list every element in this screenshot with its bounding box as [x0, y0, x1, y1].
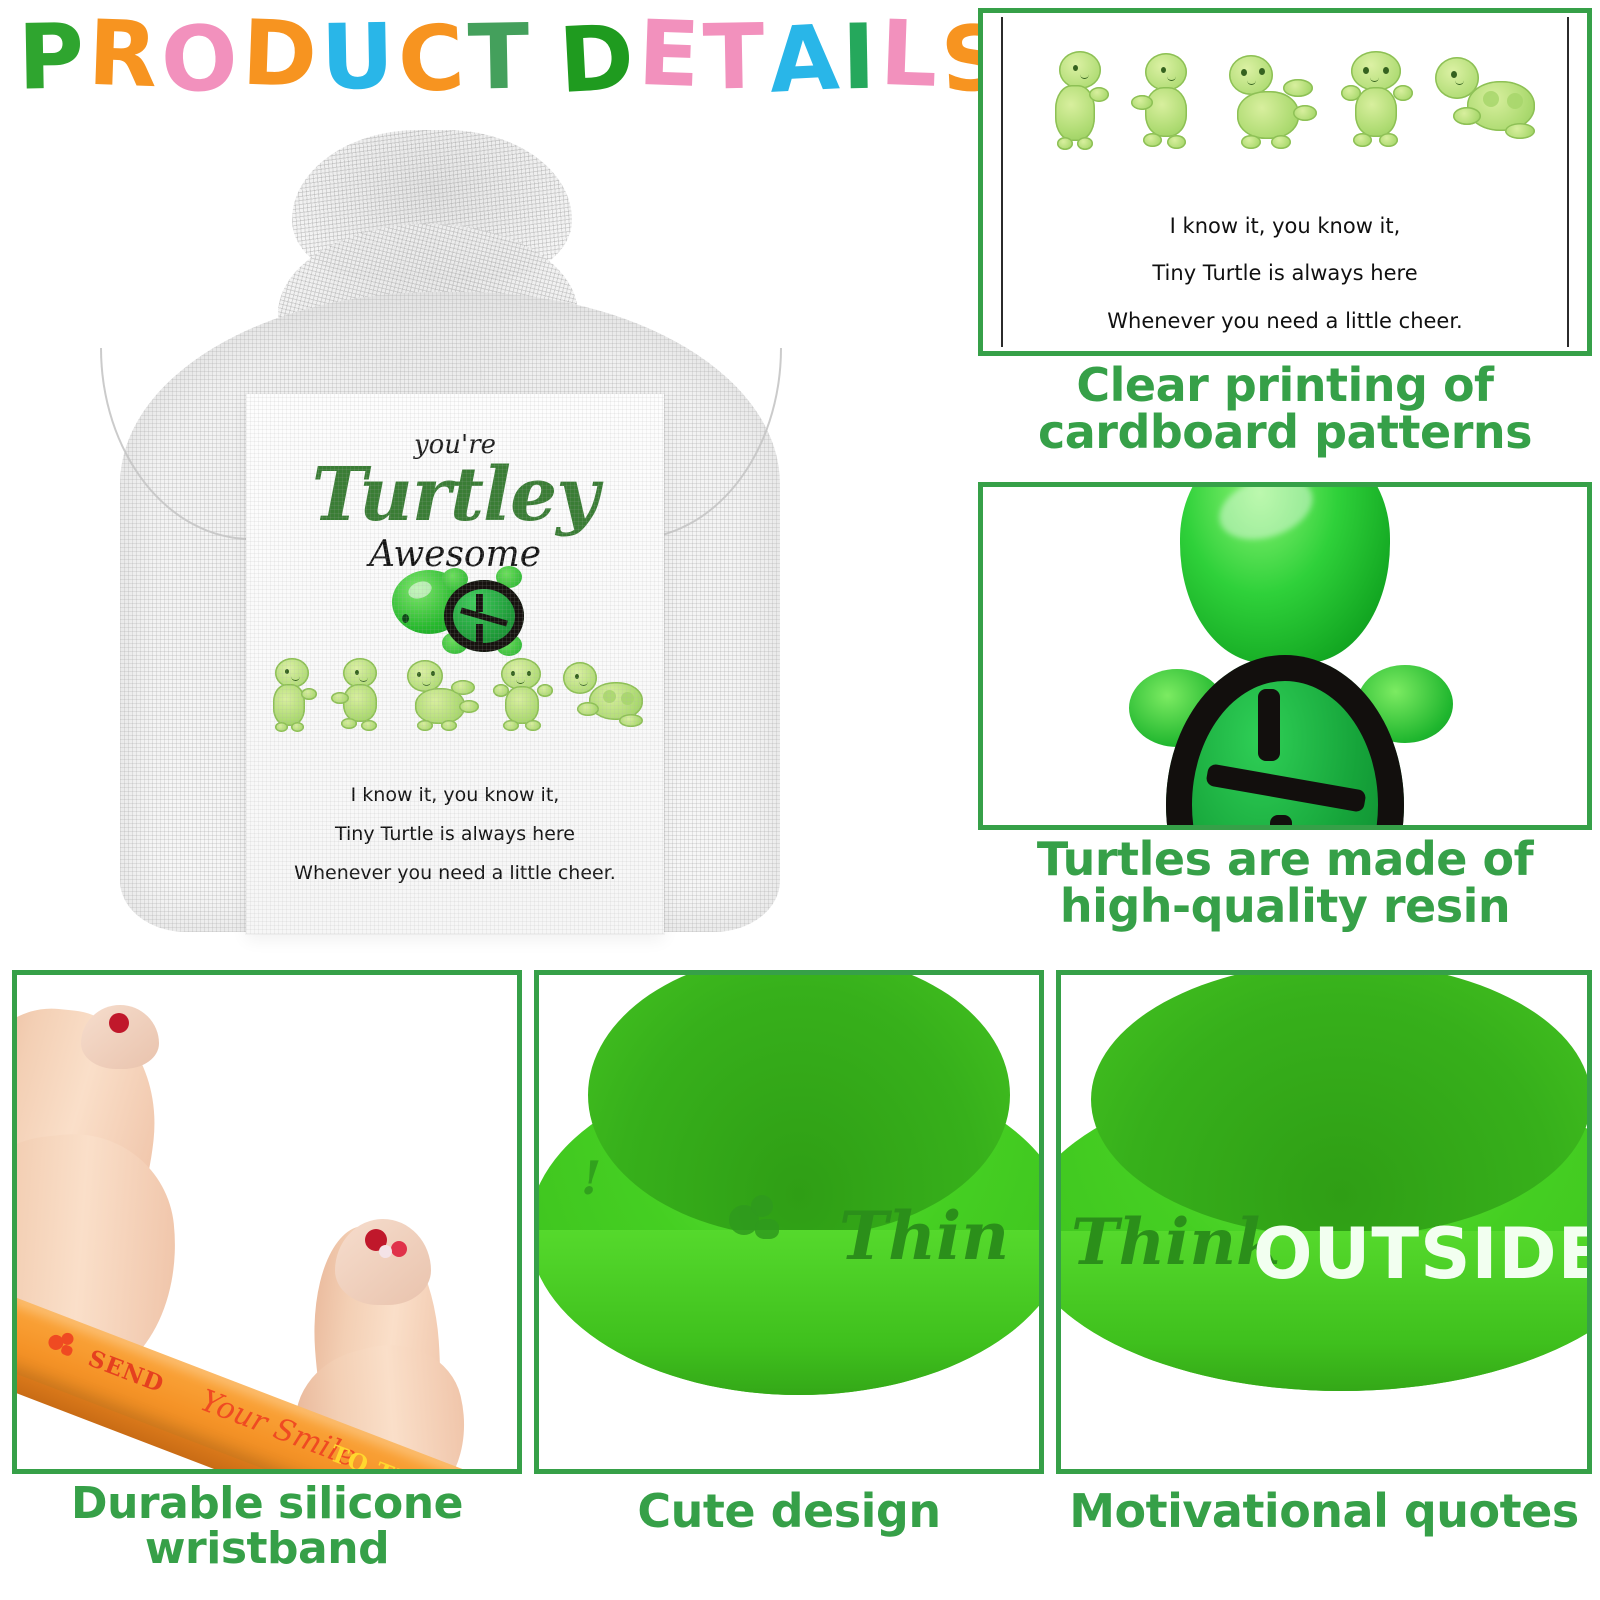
- macro-seam-1: [1258, 689, 1280, 761]
- turtle-silhouette-icon: [729, 1195, 783, 1241]
- title-letter: O: [159, 6, 245, 114]
- nail-gem-2: [391, 1241, 407, 1257]
- panel-motivational-quotes: Think OUTSIDE: [1056, 970, 1592, 1474]
- title-letter: C: [395, 6, 470, 114]
- caption-cardboard-pattern: Clear printing of cardboard patterns: [978, 362, 1592, 456]
- caption-cute-design: Cute design: [534, 1488, 1044, 1535]
- organza-bag-image: you're Turtley Awesome: [60, 112, 850, 952]
- title-letter: L: [878, 2, 943, 108]
- caption-motivational-quotes: Motivational quotes: [1056, 1488, 1592, 1535]
- fingernail-top: [81, 1005, 159, 1069]
- macro-head: [1180, 487, 1390, 663]
- title-letter: P: [17, 5, 89, 110]
- title-letter: T: [702, 5, 769, 110]
- macro-seam-3: [1270, 815, 1292, 825]
- band-inner-opening: [1091, 975, 1587, 1237]
- turtle-illustration-2: [331, 658, 387, 732]
- panel-cute-design: ! Thin: [534, 970, 1044, 1474]
- title-letter: D: [557, 6, 641, 114]
- green-band-image-quote: Think OUTSIDE: [1061, 975, 1587, 1469]
- cardboard-poem-line-1: I know it, you know it,: [1003, 203, 1567, 250]
- caption-silicone-wristband: Durable silicone wristband: [12, 1482, 522, 1572]
- charm-eye: [402, 614, 409, 623]
- turtle-illustration-1: [1047, 51, 1107, 155]
- caption-line-1: Clear printing of: [978, 362, 1592, 409]
- turtle-illustration-5: [1435, 51, 1539, 155]
- card-line-turtley: Turtley: [246, 452, 664, 538]
- title-letter: T: [467, 5, 534, 110]
- band-text-exclaim: !: [581, 1151, 601, 1205]
- card-poem-line-1: I know it, you know it,: [246, 776, 664, 815]
- caption-line-2: high-quality resin: [978, 883, 1592, 930]
- band-text-outside: OUTSIDE: [1253, 1213, 1587, 1295]
- band-text-send: SEND: [84, 1345, 168, 1399]
- resin-turtle-macro: [983, 487, 1587, 825]
- green-band-image-cute: ! Thin: [539, 975, 1039, 1469]
- cardboard-poem-line-2: Tiny Turtle is always here: [1003, 250, 1567, 297]
- caption-line-1: Durable silicone: [12, 1482, 522, 1527]
- cardboard-poem: I know it, you know it, Tiny Turtle is a…: [1003, 203, 1567, 345]
- nail-gem-3: [379, 1245, 392, 1258]
- panel-resin-quality: [978, 482, 1592, 830]
- title-letter: U: [320, 5, 399, 110]
- turtle-illustration-2: [1131, 51, 1197, 155]
- macro-seam-2: [1205, 763, 1366, 812]
- turtle-illustration-1: [265, 658, 317, 732]
- charm-shell: [444, 580, 524, 652]
- nail-gem-top: [109, 1013, 129, 1033]
- caption-line-2: wristband: [12, 1527, 522, 1572]
- turtle-illustration-3: [1221, 51, 1317, 155]
- caption-line-1: Cute design: [534, 1488, 1044, 1535]
- title-letter: R: [86, 2, 163, 108]
- page-title: PRODUCT DETAILS: [18, 6, 968, 110]
- hand-holding-band-image: SEND Your Smile TO THE WORLD: [17, 975, 517, 1469]
- turtle-illustration-4: [493, 658, 549, 732]
- charm-seam-1: [476, 594, 483, 612]
- caption-resin-quality: Turtles are made of high-quality resin: [978, 836, 1592, 930]
- charm-seam-2: [460, 608, 508, 627]
- card-poem-line-2: Tiny Turtle is always here: [246, 815, 664, 854]
- caption-line-1: Turtles are made of: [978, 836, 1592, 883]
- band-text-think: Think: [1071, 1205, 1280, 1280]
- title-letter: D: [240, 2, 322, 109]
- product-card: you're Turtley Awesome: [246, 394, 664, 934]
- card-turtle-row: [260, 652, 650, 732]
- panel-silicone-wristband: SEND Your Smile TO THE WORLD: [12, 970, 522, 1474]
- card-poem-line-3: Whenever you need a little cheer.: [246, 854, 664, 893]
- turtle-illustration-3: [401, 658, 479, 732]
- cardboard-poem-line-3: Whenever you need a little cheer.: [1003, 298, 1567, 345]
- turtle-illustration-5: [563, 658, 645, 732]
- cardboard-insert: I know it, you know it, Tiny Turtle is a…: [1001, 17, 1569, 347]
- resin-turtle-charm: [390, 562, 530, 658]
- charm-seam-3: [476, 624, 483, 644]
- title-letter: E: [636, 2, 705, 108]
- caption-line-2: cardboard patterns: [978, 409, 1592, 456]
- turtle-illustration-4: [1341, 51, 1411, 155]
- title-letter: I: [841, 6, 880, 111]
- caption-line-1: Motivational quotes: [1056, 1488, 1592, 1535]
- title-letter: A: [766, 6, 845, 114]
- cardboard-turtle-row: [1037, 45, 1549, 155]
- turtle-silhouette-icon: [44, 1327, 78, 1361]
- band-text-think-partial: Thin: [839, 1197, 1009, 1275]
- product-details-page: PRODUCT DETAILS you're Turtley Awesome: [0, 0, 1600, 1600]
- panel-cardboard-pattern: I know it, you know it, Tiny Turtle is a…: [978, 8, 1592, 356]
- card-poem: I know it, you know it, Tiny Turtle is a…: [246, 776, 664, 893]
- fingernail-index: [335, 1219, 431, 1305]
